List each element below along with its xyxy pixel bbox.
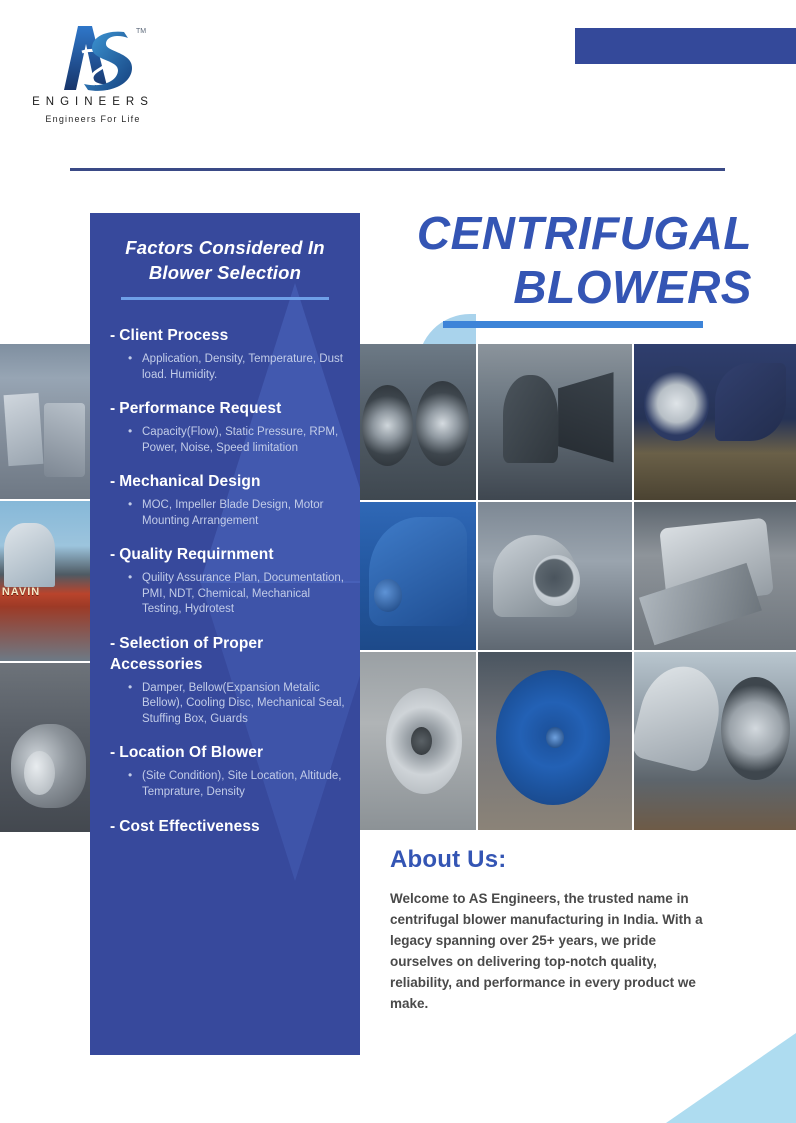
factor-heading-text: Quality Requirnment bbox=[119, 546, 273, 563]
factor-detail: Quility Assurance Plan, Documentation, P… bbox=[128, 571, 346, 618]
left-photo-strip: NAVIN bbox=[0, 344, 92, 832]
photo-left-3 bbox=[0, 663, 92, 832]
list-item: -Quality Requirnment Quility Assurance P… bbox=[106, 535, 346, 618]
factor-heading-text: Location Of Blower bbox=[119, 744, 263, 761]
logo-wordmark: ENGINEERS bbox=[18, 96, 168, 108]
factor-detail: Application, Density, Temperature, Dust … bbox=[128, 352, 346, 383]
about-section: About Us: Welcome to AS Engineers, the t… bbox=[390, 846, 720, 1014]
list-item: -Cost Effectiveness bbox=[106, 806, 346, 837]
panel-heading-divider bbox=[121, 297, 329, 300]
factor-heading: -Location Of Blower bbox=[110, 733, 346, 763]
list-item: -Selection of Proper Accessories Damper,… bbox=[106, 624, 346, 728]
list-item: -Location Of Blower (Site Condition), Si… bbox=[106, 733, 346, 800]
factor-heading: -Quality Requirnment bbox=[110, 535, 346, 565]
gallery-photo-8 bbox=[478, 652, 632, 830]
factor-heading-text: Client Process bbox=[119, 327, 228, 344]
list-item: -Client Process Application, Density, Te… bbox=[106, 316, 346, 383]
factor-heading: -Cost Effectiveness bbox=[110, 806, 346, 837]
factor-heading-text: Performance Request bbox=[119, 400, 281, 417]
page-title-line-2: BLOWERS bbox=[372, 260, 752, 314]
title-accent-line bbox=[443, 321, 703, 328]
factor-dash: - bbox=[110, 400, 115, 417]
list-item: -Performance Request Capacity(Flow), Sta… bbox=[106, 389, 346, 456]
logo-tagline: Engineers For Life bbox=[18, 114, 168, 124]
trademark-symbol: TM bbox=[136, 28, 146, 35]
factor-heading: -Selection of Proper Accessories bbox=[110, 624, 346, 675]
company-logo: TM ENGINEERS Engineers For Life bbox=[18, 22, 168, 132]
gallery-photo-3 bbox=[634, 344, 796, 500]
gallery-photo-9 bbox=[634, 652, 796, 830]
header-accent-bar bbox=[575, 28, 796, 64]
about-body-text: Welcome to AS Engineers, the trusted nam… bbox=[390, 888, 720, 1014]
gallery-photo-5 bbox=[478, 502, 632, 650]
factor-heading-text: Mechanical Design bbox=[119, 473, 260, 490]
list-item: -Mechanical Design MOC, Impeller Blade D… bbox=[106, 462, 346, 529]
factor-heading: -Performance Request bbox=[110, 389, 346, 419]
factor-heading-text: Selection of Proper Accessories bbox=[110, 635, 263, 673]
factor-dash: - bbox=[110, 744, 115, 761]
factors-panel: Factors Considered In Blower Selection -… bbox=[90, 213, 360, 1055]
as-monogram-icon bbox=[48, 22, 144, 94]
factor-heading: -Client Process bbox=[110, 316, 346, 346]
panel-heading-line-1: Factors Considered In bbox=[108, 235, 342, 260]
header-divider bbox=[70, 168, 725, 171]
page-title-line-1: CENTRIFUGAL bbox=[372, 206, 752, 260]
gallery-photo-4 bbox=[360, 502, 476, 650]
factor-dash: - bbox=[110, 818, 115, 835]
photo-left-2: NAVIN bbox=[0, 501, 92, 661]
page-title: CENTRIFUGAL BLOWERS bbox=[372, 206, 752, 314]
factor-detail: MOC, Impeller Blade Design, Motor Mounti… bbox=[128, 498, 346, 529]
factor-dash: - bbox=[110, 635, 115, 652]
photo-left-1 bbox=[0, 344, 92, 499]
gallery-photo-6 bbox=[634, 502, 796, 650]
panel-heading-line-2: Blower Selection bbox=[108, 260, 342, 285]
product-photo-gallery bbox=[360, 344, 796, 830]
factor-heading: -Mechanical Design bbox=[110, 462, 346, 492]
gallery-photo-1 bbox=[360, 344, 476, 500]
factor-heading-text: Cost Effectiveness bbox=[119, 818, 260, 835]
factor-dash: - bbox=[110, 546, 115, 563]
about-heading: About Us: bbox=[390, 846, 720, 874]
factor-detail: Capacity(Flow), Static Pressure, RPM, Po… bbox=[128, 425, 346, 456]
truck-label: NAVIN bbox=[2, 586, 40, 598]
factor-detail: (Site Condition), Site Location, Altitud… bbox=[128, 769, 346, 800]
factor-dash: - bbox=[110, 327, 115, 344]
gallery-photo-2 bbox=[478, 344, 632, 500]
factor-dash: - bbox=[110, 473, 115, 490]
panel-heading: Factors Considered In Blower Selection bbox=[108, 235, 342, 285]
corner-triangle-decoration bbox=[666, 1033, 796, 1123]
gallery-photo-7 bbox=[360, 652, 476, 830]
factors-list: -Client Process Application, Density, Te… bbox=[90, 316, 360, 837]
factor-detail: Damper, Bellow(Expansion Metalic Bellow)… bbox=[128, 681, 346, 728]
